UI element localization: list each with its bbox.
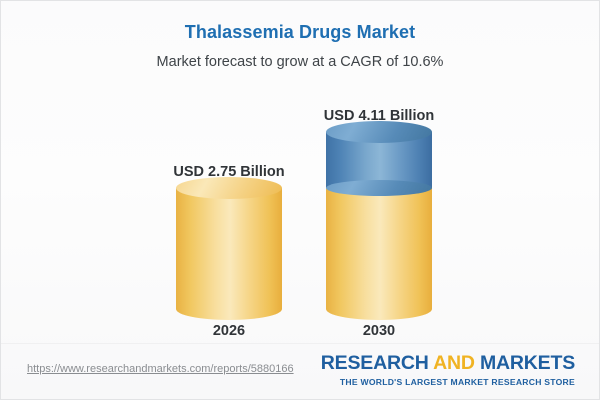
brand-wordmark: RESEARCH AND MARKETS <box>321 354 575 374</box>
category-label-2030: 2030 <box>363 323 395 339</box>
chart-title: Thalassemia Drugs Market <box>1 22 599 43</box>
infographic-card: Thalassemia Drugs Market Market forecast… <box>0 0 600 400</box>
cylinder-body-base-2030 <box>326 188 432 309</box>
chart-subtitle: Market forecast to grow at a CAGR of 10.… <box>1 54 599 70</box>
cylinder-2026[interactable] <box>176 177 282 309</box>
chart-plot-area: USD 2.75 Billion 2026 USD 4.11 Billion <box>1 81 600 343</box>
source-url-link[interactable]: https://www.researchandmarkets.com/repor… <box>27 363 294 375</box>
brand-word-markets: MARKETS <box>480 352 575 374</box>
cylinder-body-base-2026 <box>176 188 282 309</box>
brand-word-research: RESEARCH <box>321 352 433 374</box>
cylinder-segment-seam-2030 <box>326 180 432 196</box>
footer-divider <box>1 343 599 344</box>
cylinder-top-ellipse-2026 <box>176 177 282 199</box>
cylinder-top-ellipse-2030 <box>326 121 432 143</box>
footer: https://www.researchandmarkets.com/repor… <box>1 343 599 399</box>
brand-tagline: THE WORLD'S LARGEST MARKET RESEARCH STOR… <box>321 378 575 387</box>
brand-word-and: AND <box>433 352 480 374</box>
cylinder-2030[interactable] <box>326 121 432 309</box>
brand-logo[interactable]: RESEARCH AND MARKETS THE WORLD'S LARGEST… <box>321 354 575 386</box>
category-label-2026: 2026 <box>213 323 245 339</box>
